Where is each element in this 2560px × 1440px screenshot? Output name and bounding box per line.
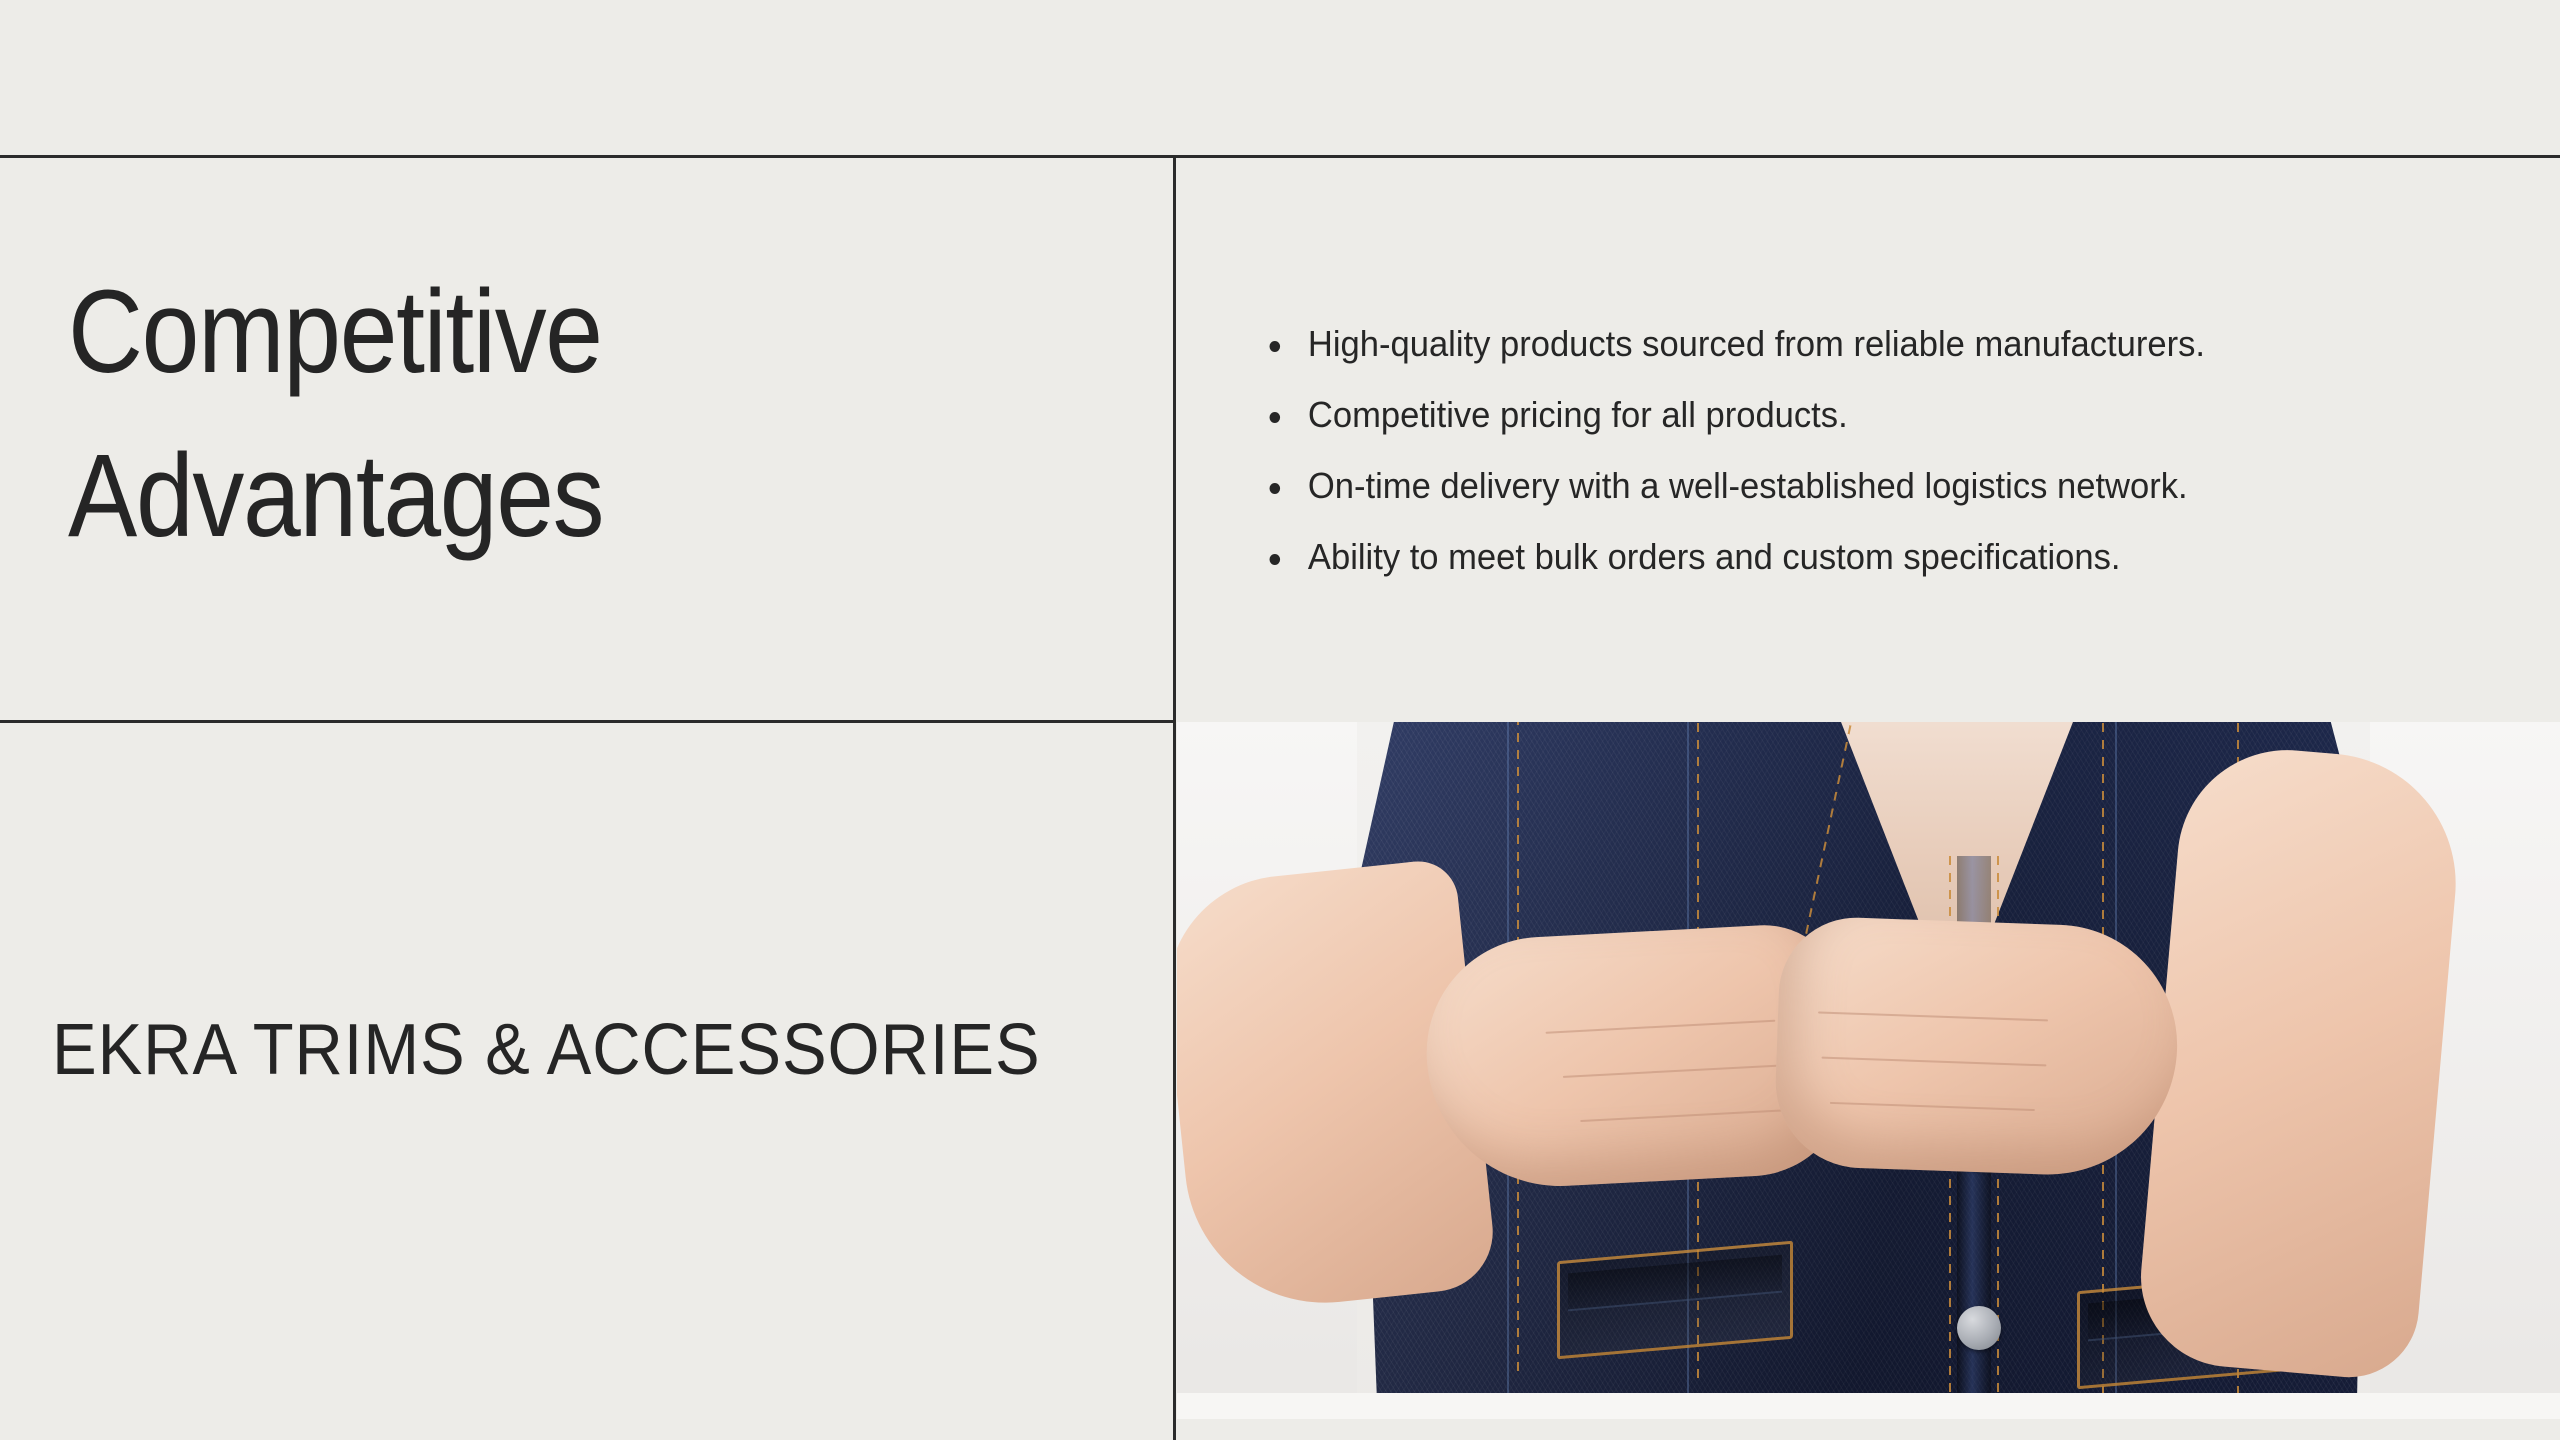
- finger-crease: [1818, 1011, 2048, 1021]
- bullet-dot-icon: [1270, 483, 1281, 494]
- page-title: Competitive Advantages: [68, 268, 1108, 560]
- list-item-label: High-quality products sourced from relia…: [1308, 323, 2205, 364]
- divider-top-horizontal: [0, 155, 2560, 158]
- list-item-label: Competitive pricing for all products.: [1308, 394, 1848, 435]
- list-item-label: On-time delivery with a well-established…: [1308, 465, 2188, 506]
- page-title-line-2: Advantages: [68, 432, 983, 560]
- welt-pocket-left: [1557, 1241, 1793, 1360]
- list-item: Ability to meet bulk orders and custom s…: [1258, 535, 2439, 579]
- finger-crease: [1830, 1102, 2035, 1111]
- divider-middle-horizontal: [0, 720, 1176, 723]
- advantages-list: High-quality products sourced from relia…: [1258, 322, 2488, 579]
- list-item: On-time delivery with a well-established…: [1258, 464, 2439, 508]
- right-arm: [2134, 741, 2467, 1383]
- slide-canvas: Competitive Advantages High-quality prod…: [0, 0, 2560, 1440]
- list-item: High-quality products sourced from relia…: [1258, 322, 2439, 366]
- bullet-dot-icon: [1270, 341, 1281, 352]
- finger-crease: [1563, 1064, 1788, 1078]
- divider-vertical-lower: [1173, 722, 1176, 1440]
- denim-vest-photo: [1177, 722, 2560, 1419]
- finger-crease: [1546, 1020, 1776, 1034]
- pocket-flap: [1568, 1255, 1782, 1312]
- snap-button: [1957, 1306, 2001, 1350]
- finger-crease: [1822, 1057, 2047, 1067]
- list-item: Competitive pricing for all products.: [1258, 393, 2439, 437]
- page-title-line-1: Competitive: [68, 268, 983, 396]
- right-hand: [1773, 915, 2181, 1179]
- divider-vertical-upper: [1173, 155, 1176, 723]
- bullet-dot-icon: [1270, 412, 1281, 423]
- photo-canvas: [1177, 722, 2560, 1419]
- list-item-label: Ability to meet bulk orders and custom s…: [1308, 536, 2121, 577]
- finger-crease: [1580, 1109, 1790, 1122]
- bullet-dot-icon: [1270, 554, 1281, 565]
- studio-floor: [1177, 1393, 2560, 1419]
- brand-name: EKRA TRIMS & ACCESSORIES: [52, 1008, 1041, 1092]
